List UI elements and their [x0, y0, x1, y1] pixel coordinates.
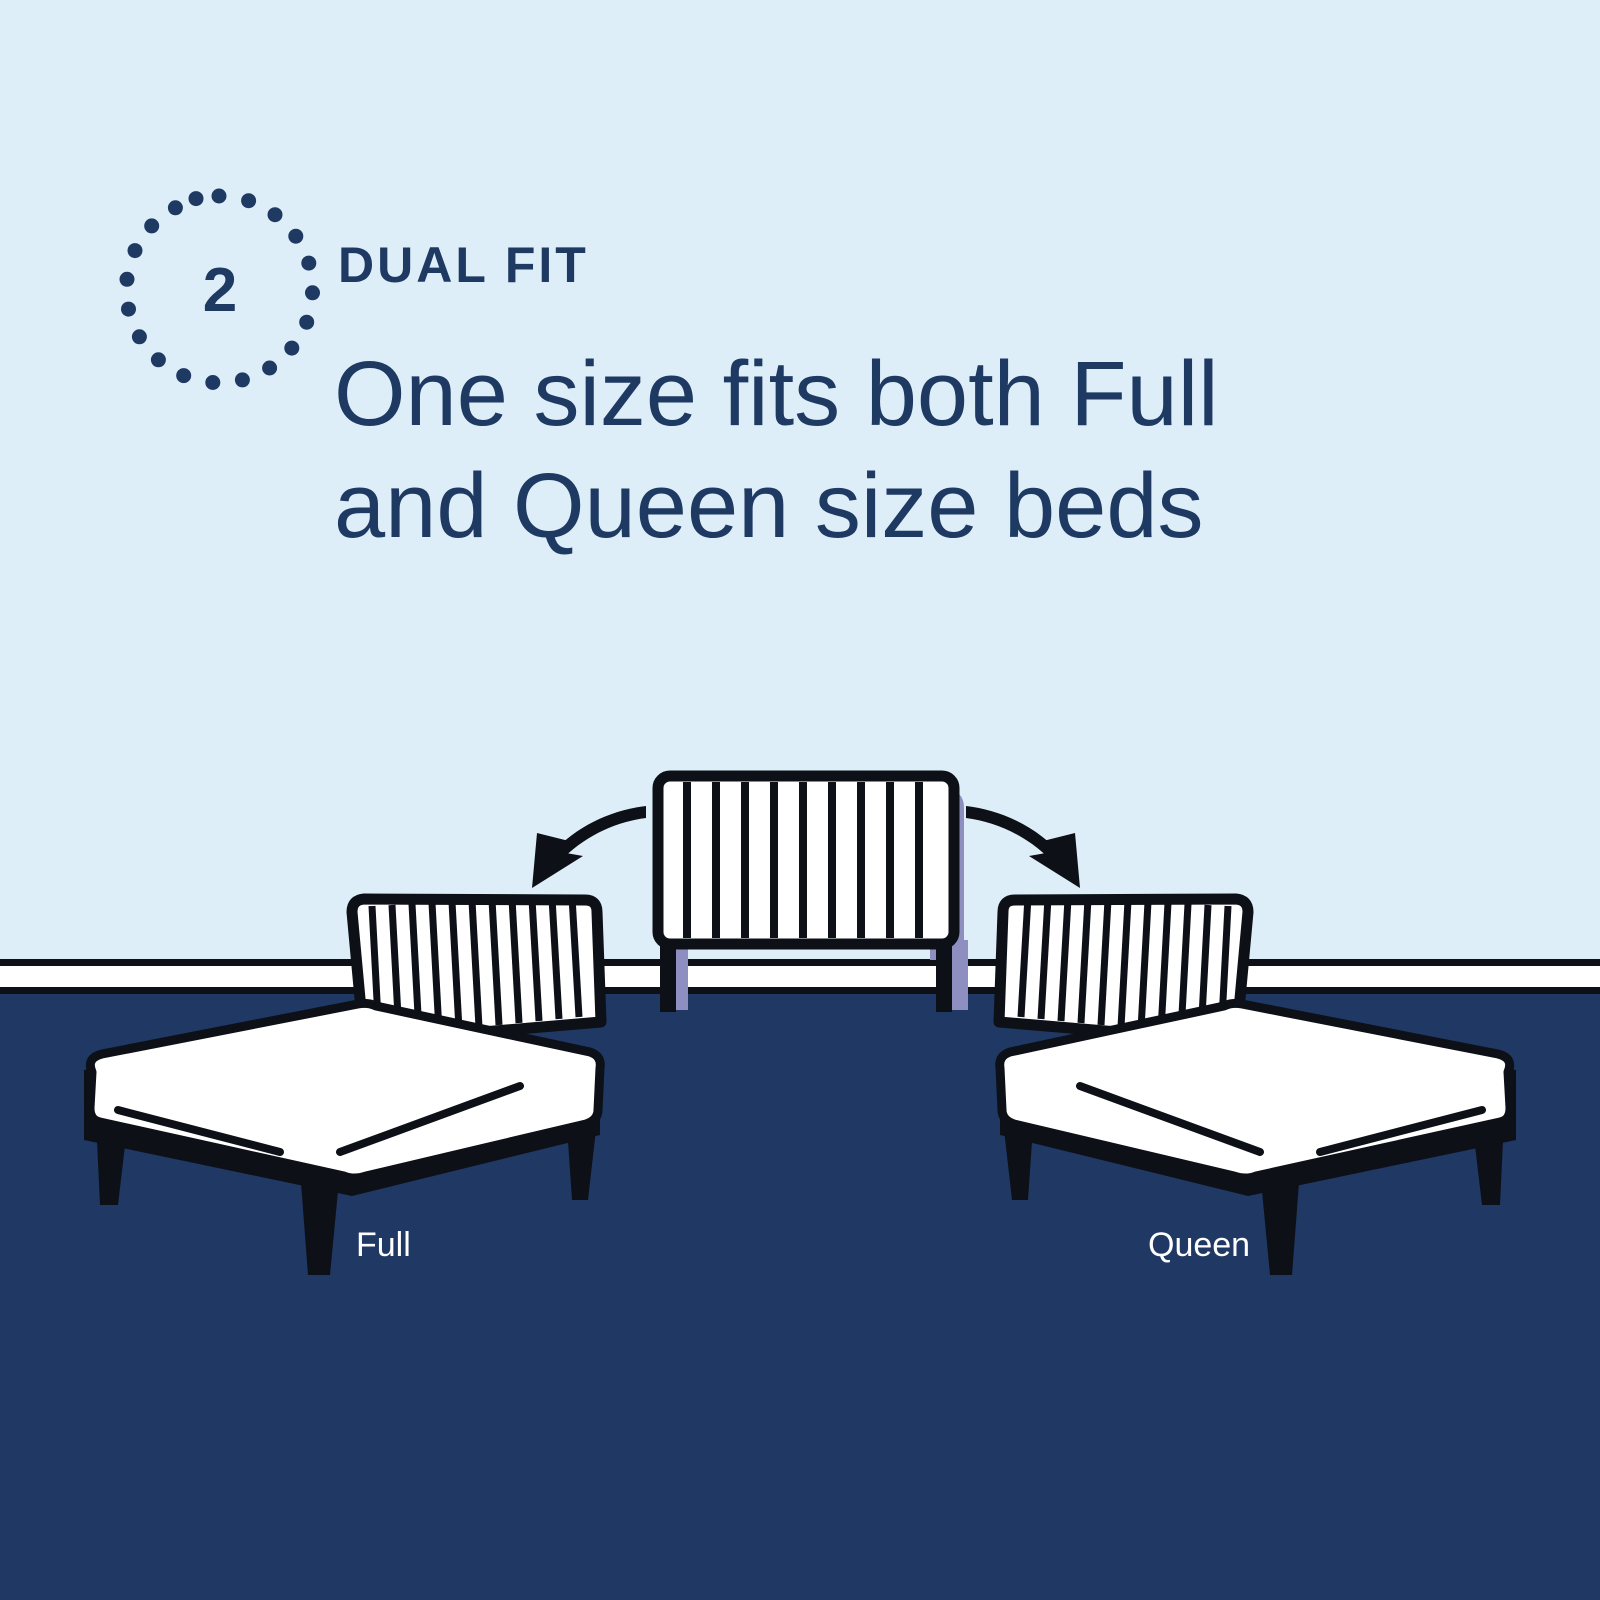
scene-svg: 2 DUAL FIT One size fits both Full and Q… [0, 0, 1600, 1600]
headboard-leg-shadow-right [952, 940, 968, 1010]
eyebrow-label: DUAL FIT [338, 237, 589, 293]
headline-line-1: One size fits both Full [334, 343, 1219, 445]
bed-queen-label: Queen [1148, 1226, 1250, 1264]
infographic-canvas: 2 DUAL FIT One size fits both Full and Q… [0, 0, 1600, 1600]
baseboard [0, 962, 1600, 990]
badge-number: 2 [203, 256, 237, 325]
baseboard-top-line [0, 959, 1600, 966]
baseboard-bottom-line [0, 987, 1600, 994]
bed-full-label: Full [356, 1226, 411, 1264]
headline-line-2: and Queen size beds [334, 455, 1204, 557]
